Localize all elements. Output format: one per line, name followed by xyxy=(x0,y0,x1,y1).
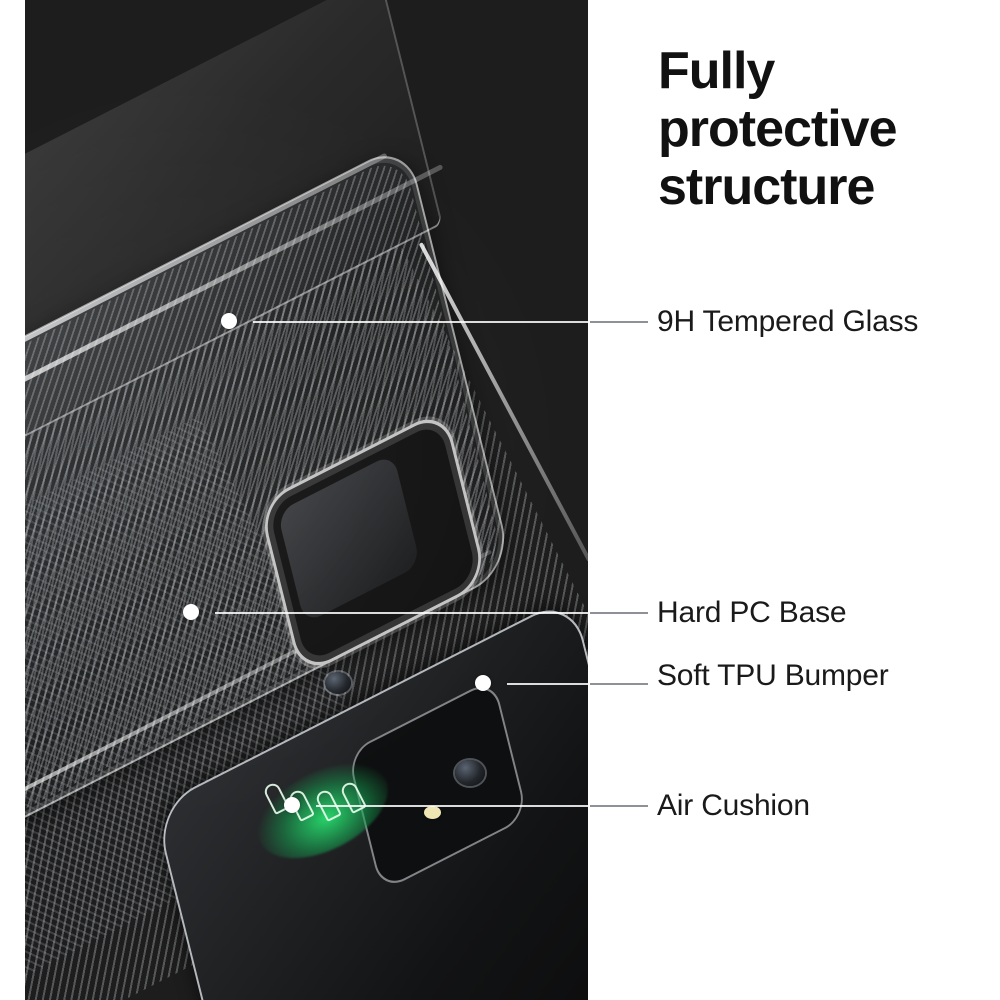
leader-line-soft-tpu-bumper xyxy=(590,683,648,685)
callout-label-air-cushion: Air Cushion xyxy=(657,789,810,823)
leader-line-air-cushion-photo xyxy=(316,805,588,807)
callout-label-soft-tpu-bumper: Soft TPU Bumper xyxy=(657,659,889,693)
product-photo xyxy=(25,0,588,1000)
callout-label-hard-pc-base: Hard PC Base xyxy=(657,596,846,630)
callout-dot-soft-tpu-bumper xyxy=(475,675,491,691)
callout-dot-tempered-glass xyxy=(221,313,237,329)
callout-dot-hard-pc-base xyxy=(183,604,199,620)
product-infographic: Fully protective structure 9H Tempered G… xyxy=(0,0,1000,1000)
leader-line-hard-pc-base-photo xyxy=(215,612,588,614)
leader-line-hard-pc-base xyxy=(590,612,648,614)
leader-line-tempered-glass xyxy=(590,321,648,323)
sensor-dot xyxy=(424,806,441,819)
leader-line-tempered-glass-photo xyxy=(253,321,588,323)
callout-label-tempered-glass: 9H Tempered Glass xyxy=(657,305,918,339)
camera-lens-small-1 xyxy=(325,672,351,694)
page-title: Fully protective structure xyxy=(658,42,988,217)
leader-line-soft-tpu-bumper-photo xyxy=(507,683,588,685)
callout-dot-air-cushion xyxy=(284,797,300,813)
camera-lens-main xyxy=(455,760,485,786)
leader-line-air-cushion xyxy=(590,805,648,807)
